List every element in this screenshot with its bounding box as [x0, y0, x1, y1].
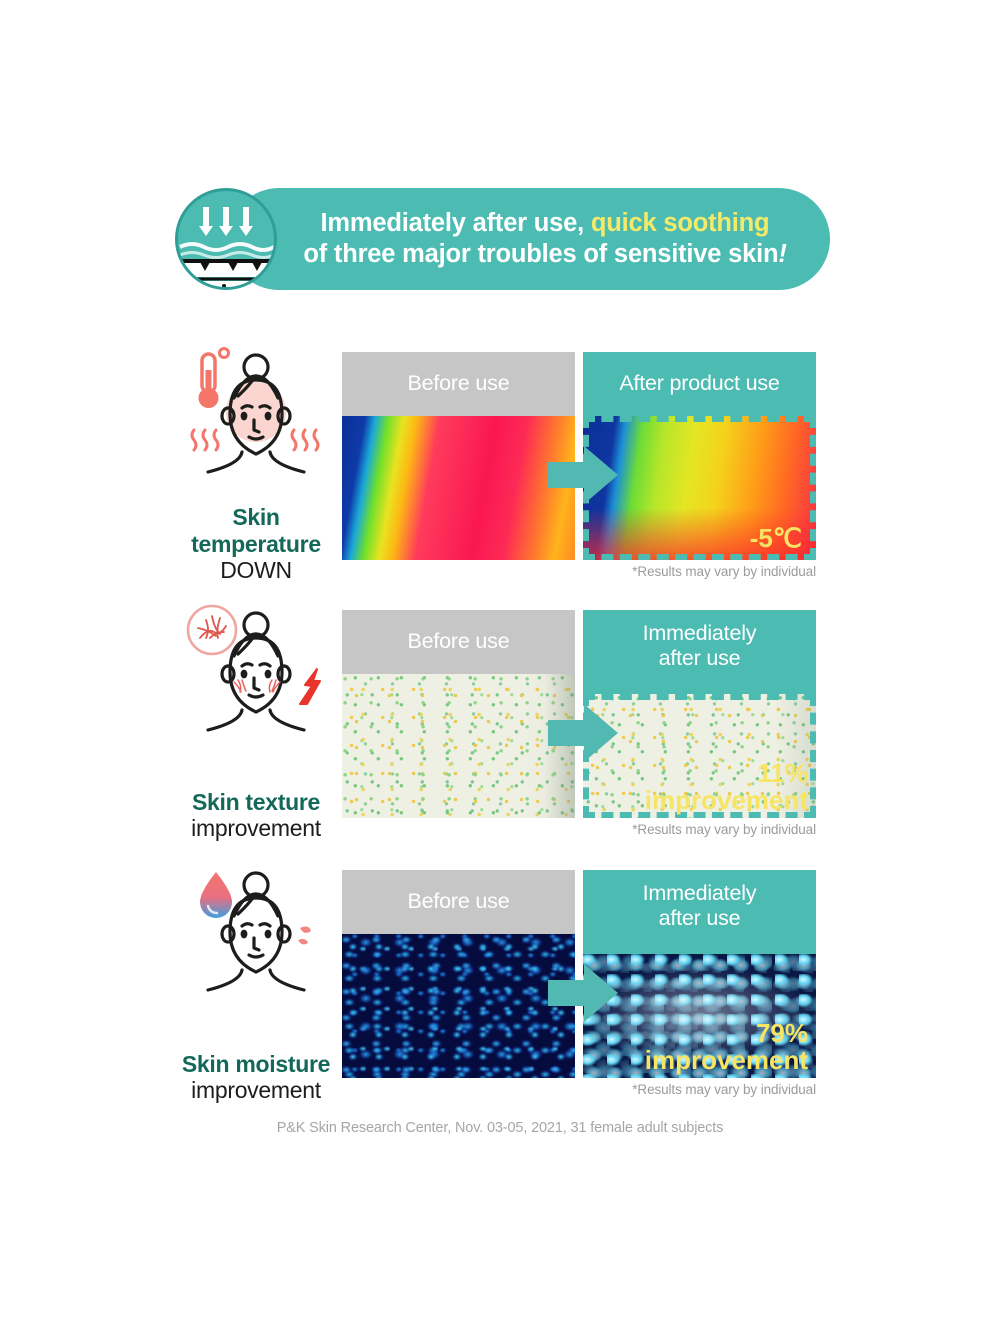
transition-arrow-icon: [548, 964, 618, 1022]
section-skin-texture: Skin texture improvement Before use Imme…: [0, 596, 1000, 848]
result-callout: 11% improvement: [645, 760, 808, 814]
banner-line-1: Immediately after use, quick soothing: [321, 208, 770, 239]
header-banner: Immediately after use, quick soothing of…: [175, 188, 830, 290]
after-caption: After product use: [583, 352, 816, 396]
result-value: -5℃: [750, 525, 802, 552]
before-caption: Before use: [342, 352, 575, 396]
result-label: improvement: [645, 1047, 808, 1074]
section-title-main: Skin: [172, 504, 340, 531]
before-panel: Before use: [342, 610, 575, 818]
after-caption-line-2: after use: [659, 646, 741, 670]
banner-exclamation: !: [778, 240, 786, 268]
banner-line-1-white: Immediately after use,: [321, 209, 584, 237]
study-citation: P&K Skin Research Center, Nov. 03-05, 20…: [0, 1120, 1000, 1136]
after-caption-line-1: Immediately: [643, 621, 757, 645]
result-value: 11%: [645, 760, 808, 787]
before-panel: Before use: [342, 870, 575, 1078]
skin-moisture-before-image: [342, 934, 575, 1078]
section-skin-moisture: Skin moisture improvement Before use Imm…: [0, 856, 1000, 1110]
banner-text: Immediately after use, quick soothing of…: [285, 193, 805, 285]
section-title-sub: improvement: [172, 1077, 340, 1104]
banner-line-2-text: of three major troubles of sensitive ski…: [303, 240, 778, 268]
face-hot-thermometer-icon: [172, 340, 340, 505]
section-title-main: Skin texture: [172, 789, 340, 816]
transition-arrow-icon: [548, 446, 618, 504]
result-label: improvement: [645, 787, 808, 814]
banner-line-1-accent: quick soothing: [591, 209, 770, 237]
section-title: Skin moisture improvement: [172, 1051, 340, 1104]
section-title: Skin temperature DOWN: [172, 504, 340, 584]
disclaimer-note: *Results may vary by individual: [583, 822, 816, 837]
skin-texture-before-image: [342, 674, 575, 818]
after-caption-line-1: Immediately: [643, 881, 757, 905]
before-caption: Before use: [342, 870, 575, 914]
before-panel: Before use: [342, 352, 575, 560]
after-caption-line-2: after use: [659, 906, 741, 930]
section-title-sub: improvement: [172, 815, 340, 842]
skin-absorption-icon: [175, 188, 277, 290]
face-redness-capillaries-icon: [172, 598, 340, 763]
banner-line-2: of three major troubles of sensitive ski…: [303, 239, 786, 270]
section-title-main-2: temperature: [172, 531, 340, 558]
before-caption: Before use: [342, 610, 575, 654]
label-column: Skin moisture improvement: [172, 856, 340, 1110]
result-callout: -5℃: [750, 525, 802, 552]
label-column: Skin temperature DOWN: [172, 338, 340, 590]
disclaimer-note: *Results may vary by individual: [583, 564, 816, 579]
section-title-main: Skin moisture: [172, 1051, 340, 1078]
section-title-sub: DOWN: [172, 557, 340, 584]
after-caption: Immediately after use: [583, 870, 816, 932]
disclaimer-note: *Results may vary by individual: [583, 1082, 816, 1097]
thermal-before-image: [342, 416, 575, 560]
transition-arrow-icon: [548, 704, 618, 762]
result-callout: 79% improvement: [645, 1020, 808, 1074]
label-column: Skin texture improvement: [172, 596, 340, 848]
section-skin-temperature: Skin temperature DOWN Before use After p…: [0, 338, 1000, 590]
section-title: Skin texture improvement: [172, 789, 340, 842]
result-value: 79%: [645, 1020, 808, 1047]
after-caption: Immediately after use: [583, 610, 816, 672]
face-dry-waterdrop-icon: [172, 858, 340, 1023]
